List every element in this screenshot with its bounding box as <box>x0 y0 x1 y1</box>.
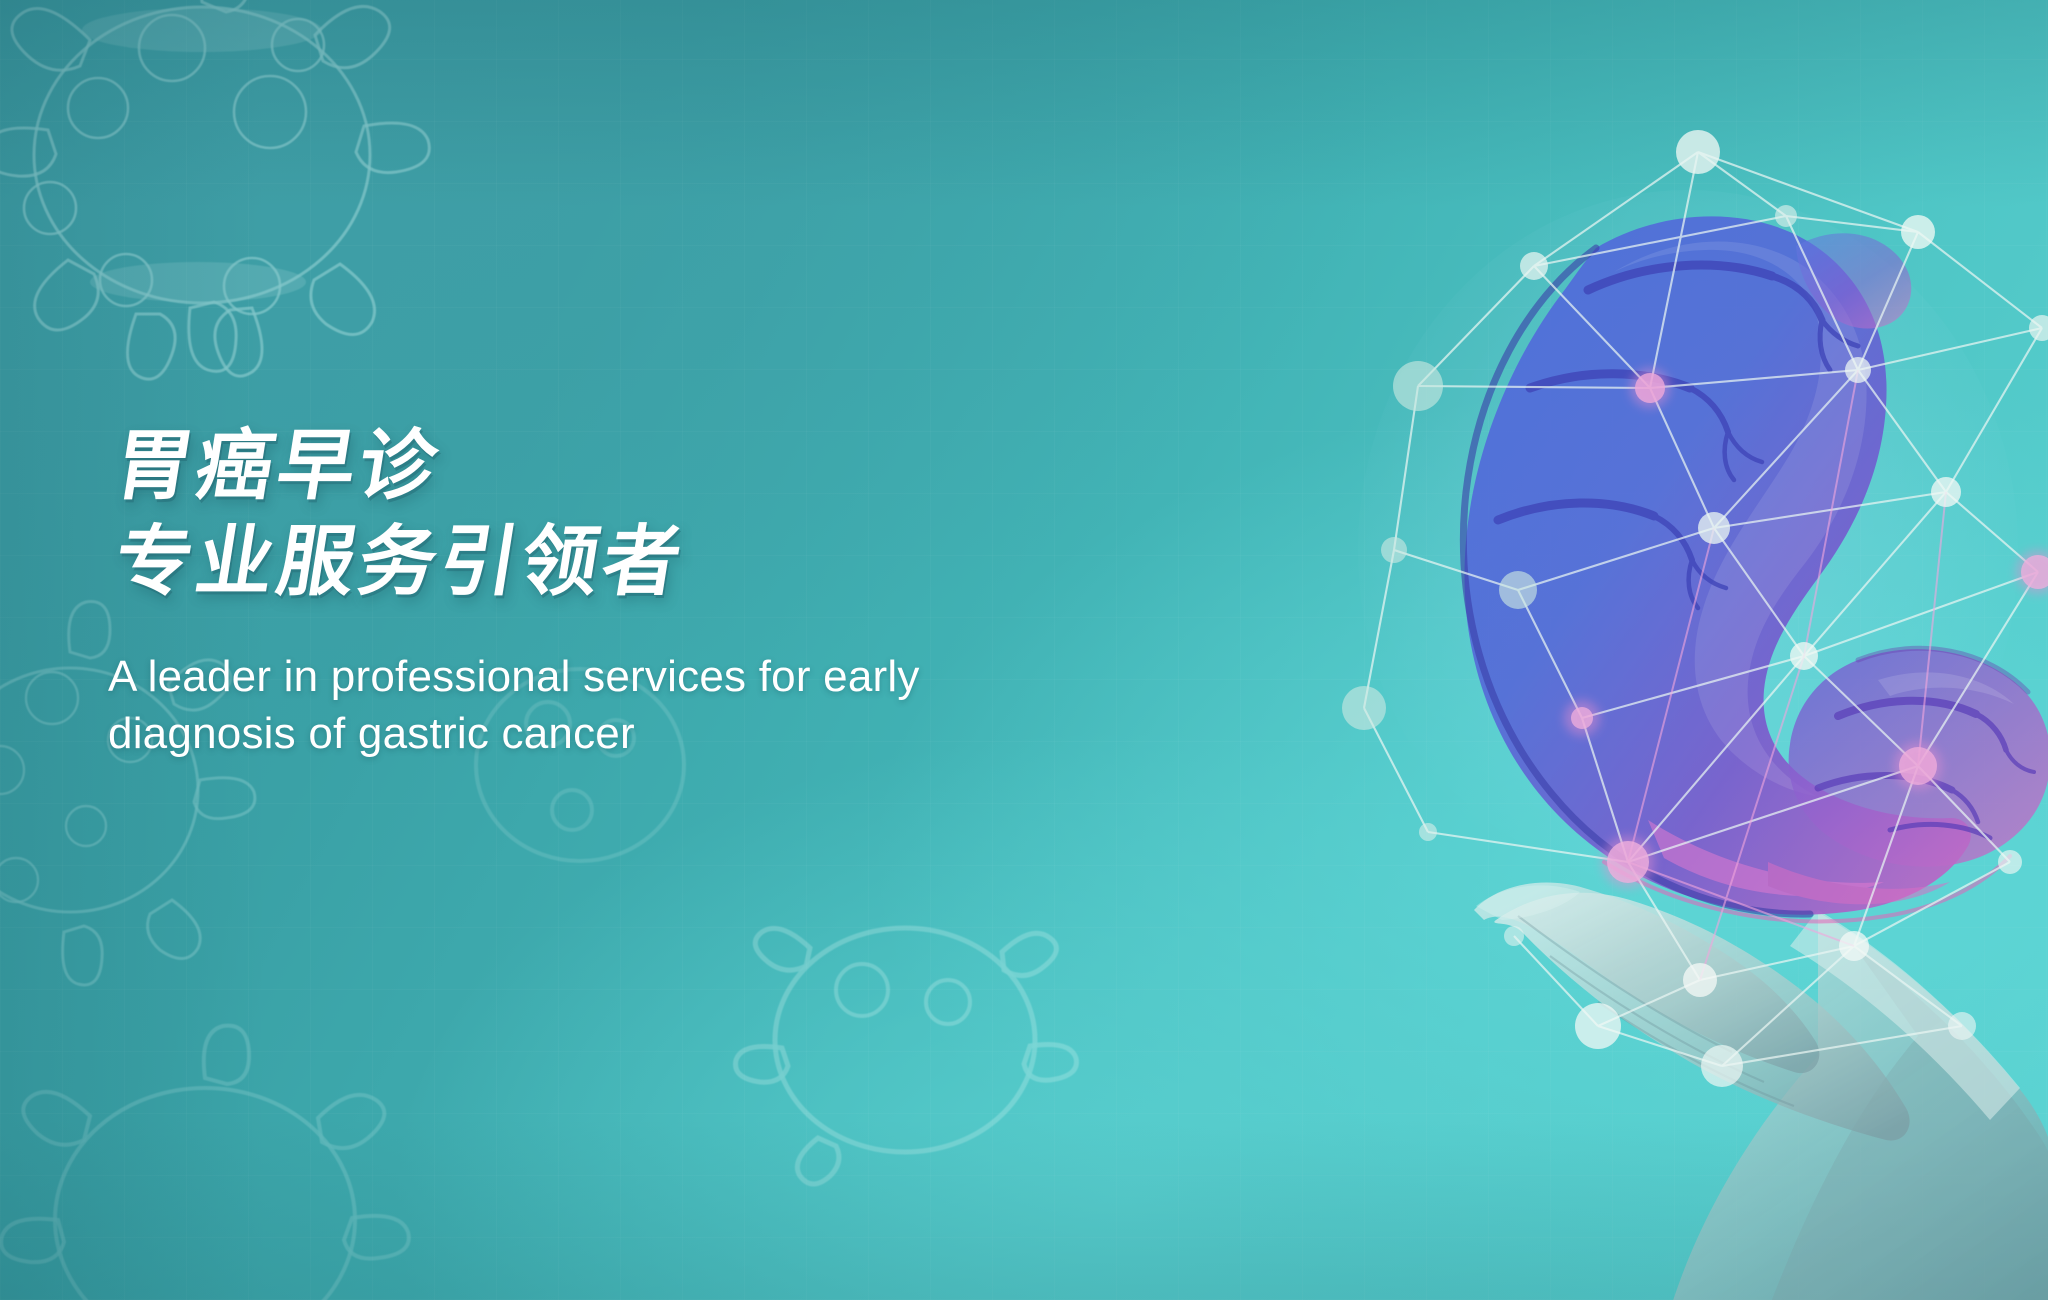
headline-cn-line2: 专业服务引领者 <box>108 516 1183 610</box>
hero-copy: 胃癌早诊 专业服务引领者 A leader in professional se… <box>108 420 1168 762</box>
subheadline-en: A leader in professional services for ea… <box>108 648 1168 762</box>
subheadline-en-line2: diagnosis of gastric cancer <box>108 705 1168 762</box>
headline-cn-line1: 胃癌早诊 <box>108 420 1183 514</box>
banner-hero: 胃癌早诊 专业服务引领者 A leader in professional se… <box>0 0 2048 1300</box>
subheadline-en-line1: A leader in professional services for ea… <box>108 648 1168 705</box>
